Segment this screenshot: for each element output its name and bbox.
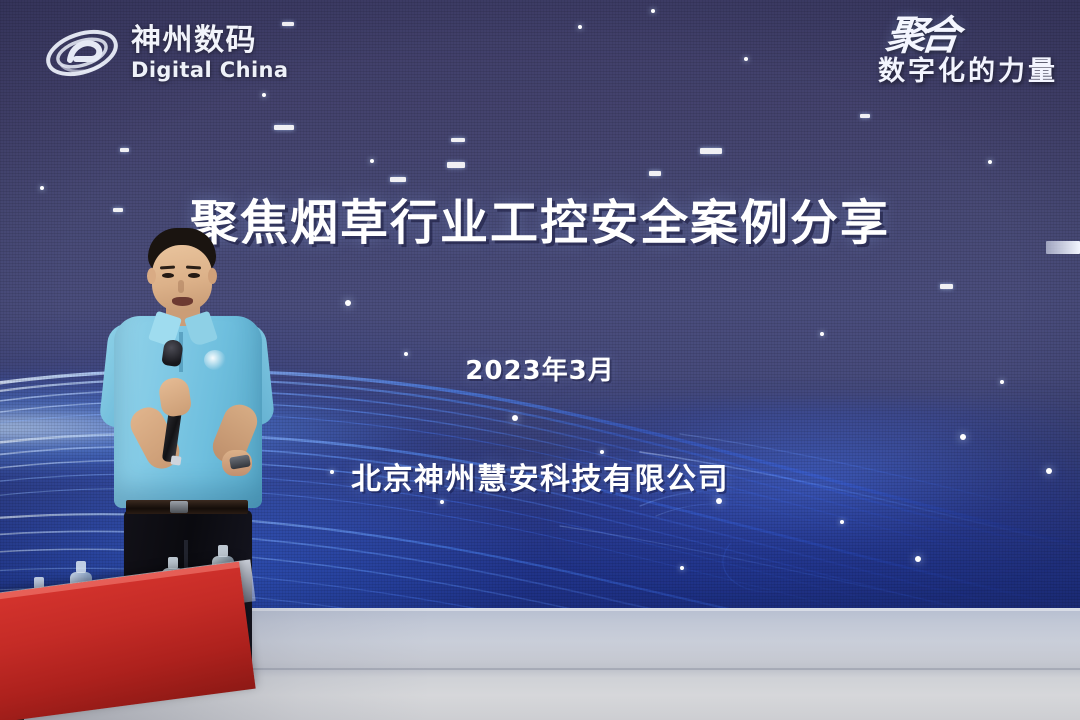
- screen-edge-marker: [1046, 241, 1080, 254]
- presenter-ear-right: [208, 268, 217, 284]
- presenter-person: [96, 228, 286, 618]
- event-logo: 聚合 数字化的力量: [808, 18, 1058, 88]
- presenter-eye-left: [162, 273, 174, 278]
- microphone-tip: [170, 455, 181, 465]
- event-logo-brush-text: 聚合: [806, 18, 956, 55]
- presenter-shirt-emblem: [204, 350, 226, 370]
- presenter-ear-left: [147, 268, 156, 284]
- digital-china-logo: 神州数码 Digital China: [42, 22, 288, 84]
- presenter-eye-right: [188, 273, 200, 278]
- swirl-galaxy-icon: [42, 22, 122, 84]
- brand-name-en: Digital China: [131, 60, 288, 81]
- presenter-nose: [178, 280, 184, 293]
- brand-name-cn: 神州数码: [131, 26, 288, 56]
- microphone-head-icon: [161, 339, 183, 367]
- presenter-mouth: [172, 297, 193, 306]
- conference-stage-photo: 神州数码 Digital China 聚合 数字化的力量 聚焦烟草行业工控安全案…: [0, 0, 1080, 720]
- presenter-belt-buckle: [170, 501, 188, 513]
